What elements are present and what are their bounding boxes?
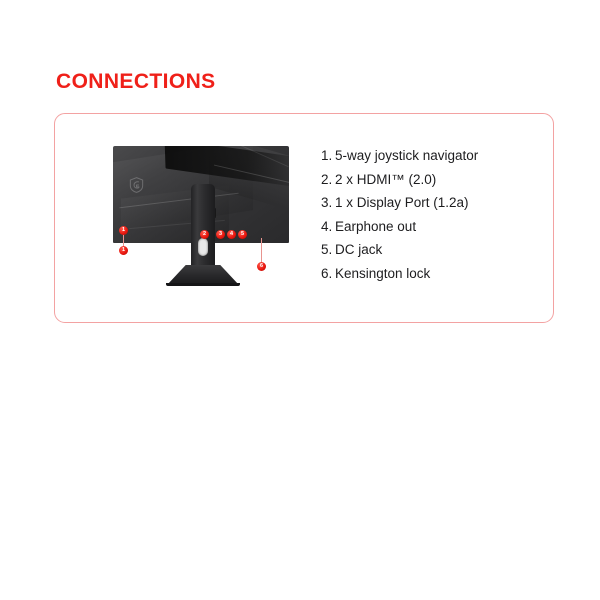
list-item-number: 2. <box>321 168 335 192</box>
list-item: 3.1 x Display Port (1.2a) <box>321 191 541 215</box>
connections-card: 1 1 2 3 4 5 6 1.5-way joystick navigator… <box>54 113 554 323</box>
page-title: CONNECTIONS <box>56 71 216 92</box>
callout-badge-6: 6 <box>257 262 266 271</box>
panel-edge-line <box>119 193 238 209</box>
callout-badge-3: 3 <box>216 230 225 239</box>
monitor-stand-base <box>167 265 239 285</box>
list-item-number: 4. <box>321 215 335 239</box>
list-item-number: 6. <box>321 262 335 286</box>
list-item: 6.Kensington lock <box>321 262 541 286</box>
callout-badge-5: 5 <box>238 230 247 239</box>
monitor-stand-foot <box>166 283 240 286</box>
msi-dragon-logo <box>129 177 144 193</box>
list-item-label: Kensington lock <box>335 266 430 281</box>
list-item-number: 1. <box>321 144 335 168</box>
list-item-label: DC jack <box>335 242 382 257</box>
list-item-label: 1 x Display Port (1.2a) <box>335 195 469 210</box>
list-item-label: Earphone out <box>335 219 416 234</box>
callout-badge-2: 2 <box>200 230 209 239</box>
list-item: 1.5-way joystick navigator <box>321 144 541 168</box>
list-item-label: 2 x HDMI™ (2.0) <box>335 172 436 187</box>
list-item: 4.Earphone out <box>321 215 541 239</box>
connections-spec-list: 1.5-way joystick navigator 2.2 x HDMI™ (… <box>321 144 541 285</box>
callout-badge-1-upper: 1 <box>119 226 128 235</box>
list-item-label: 5-way joystick navigator <box>335 148 478 163</box>
callout-badge-1: 1 <box>119 246 128 255</box>
list-item: 2.2 x HDMI™ (2.0) <box>321 168 541 192</box>
callout-leader-line-6 <box>261 238 262 264</box>
list-item: 5.DC jack <box>321 238 541 262</box>
list-item-number: 3. <box>321 191 335 215</box>
callout-badge-4: 4 <box>227 230 236 239</box>
panel-edge-line <box>214 165 289 185</box>
cable-management-hole <box>198 238 208 256</box>
monitor-illustration: 1 1 2 3 4 5 6 <box>111 146 293 301</box>
list-item-number: 5. <box>321 238 335 262</box>
panel-edge-line <box>233 146 288 167</box>
